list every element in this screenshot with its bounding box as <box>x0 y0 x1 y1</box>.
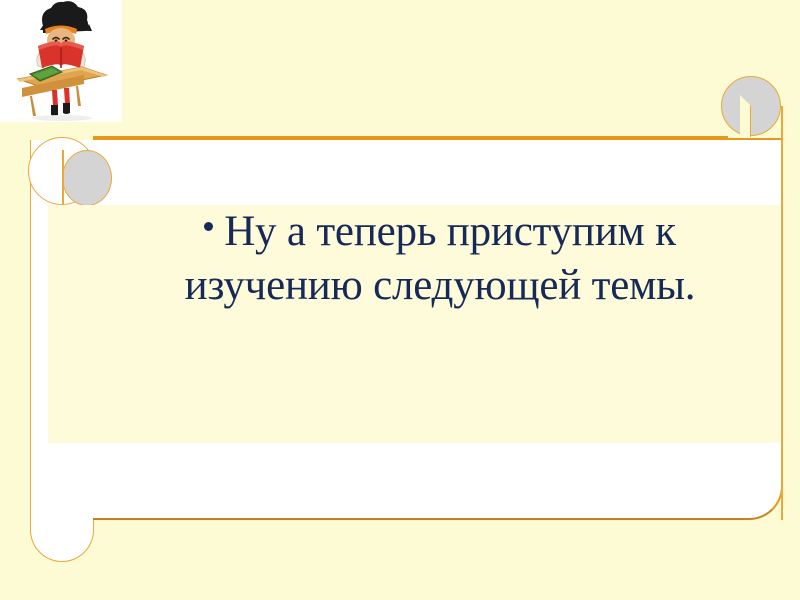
scroll-curl-left-fill-icon <box>62 150 112 206</box>
presentation-slide: Ну а теперь приступим к изучению следующ… <box>0 0 800 600</box>
slide-body-text: Ну а теперь приступим к изучению следующ… <box>100 206 780 313</box>
bullet-line-1: Ну а теперь приступим к <box>100 206 780 258</box>
clipart-panel <box>0 0 122 122</box>
scroll-top-edge <box>93 136 728 138</box>
scroll-right-edge <box>781 106 783 520</box>
body-text-line-2: изучению следующей темы. <box>100 260 780 312</box>
body-text-line-1: Ну а теперь приступим к <box>224 208 676 255</box>
child-reading-book-at-desk-icon <box>0 0 122 122</box>
scroll-curl-right-notch <box>740 95 751 137</box>
bullet-point-icon <box>204 222 213 231</box>
scroll-curl-right-icon <box>721 76 781 136</box>
